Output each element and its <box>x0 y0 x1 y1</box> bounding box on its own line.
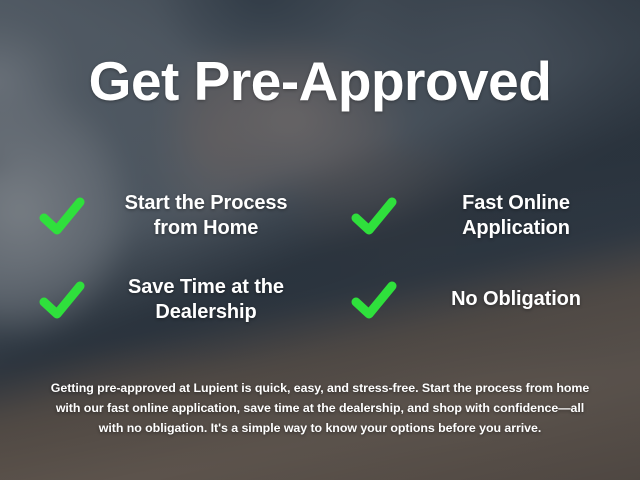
benefit-label: No Obligation <box>412 287 620 313</box>
banner-content: Get Pre-Approved Start the Process from … <box>0 0 640 480</box>
benefit-item: Save Time at the Dealership <box>20 260 312 340</box>
benefit-item: Start the Process from Home <box>20 176 312 256</box>
summary-paragraph: Getting pre-approved at Lupient is quick… <box>50 378 590 438</box>
benefit-label: Start the Process from Home <box>100 191 312 242</box>
benefit-item: No Obligation <box>328 260 620 340</box>
benefit-label: Save Time at the Dealership <box>100 275 312 326</box>
check-icon <box>350 278 398 322</box>
check-icon <box>38 278 86 322</box>
benefit-item: Fast Online Application <box>328 176 620 256</box>
headline: Get Pre-Approved <box>89 52 552 111</box>
check-icon <box>350 194 398 238</box>
benefit-label: Fast Online Application <box>412 191 620 242</box>
pre-approval-banner: Get Pre-Approved Start the Process from … <box>0 0 640 480</box>
benefits-list: Start the Process from Home Fast Online … <box>20 176 620 340</box>
check-icon <box>38 194 86 238</box>
